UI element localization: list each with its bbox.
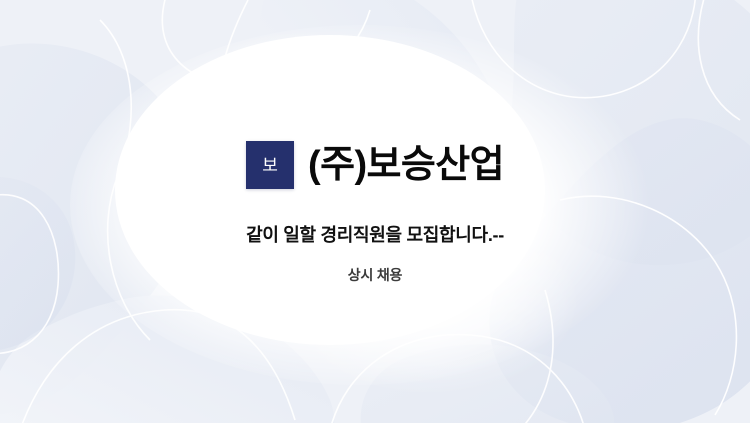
job-headline: 같이 일할 경리직원을 모집합니다.-- — [246, 225, 504, 247]
company-title-row: 보 (주)보승산업 — [246, 141, 504, 189]
employment-type-label: 상시 채용 — [348, 267, 402, 284]
banner-content: 보 (주)보승산업 같이 일할 경리직원을 모집합니다.-- 상시 채용 — [0, 0, 750, 423]
company-logo-mark: 보 — [246, 141, 294, 189]
company-name: (주)보승산업 — [308, 146, 504, 184]
job-posting-banner: 보 (주)보승산업 같이 일할 경리직원을 모집합니다.-- 상시 채용 — [0, 0, 750, 423]
